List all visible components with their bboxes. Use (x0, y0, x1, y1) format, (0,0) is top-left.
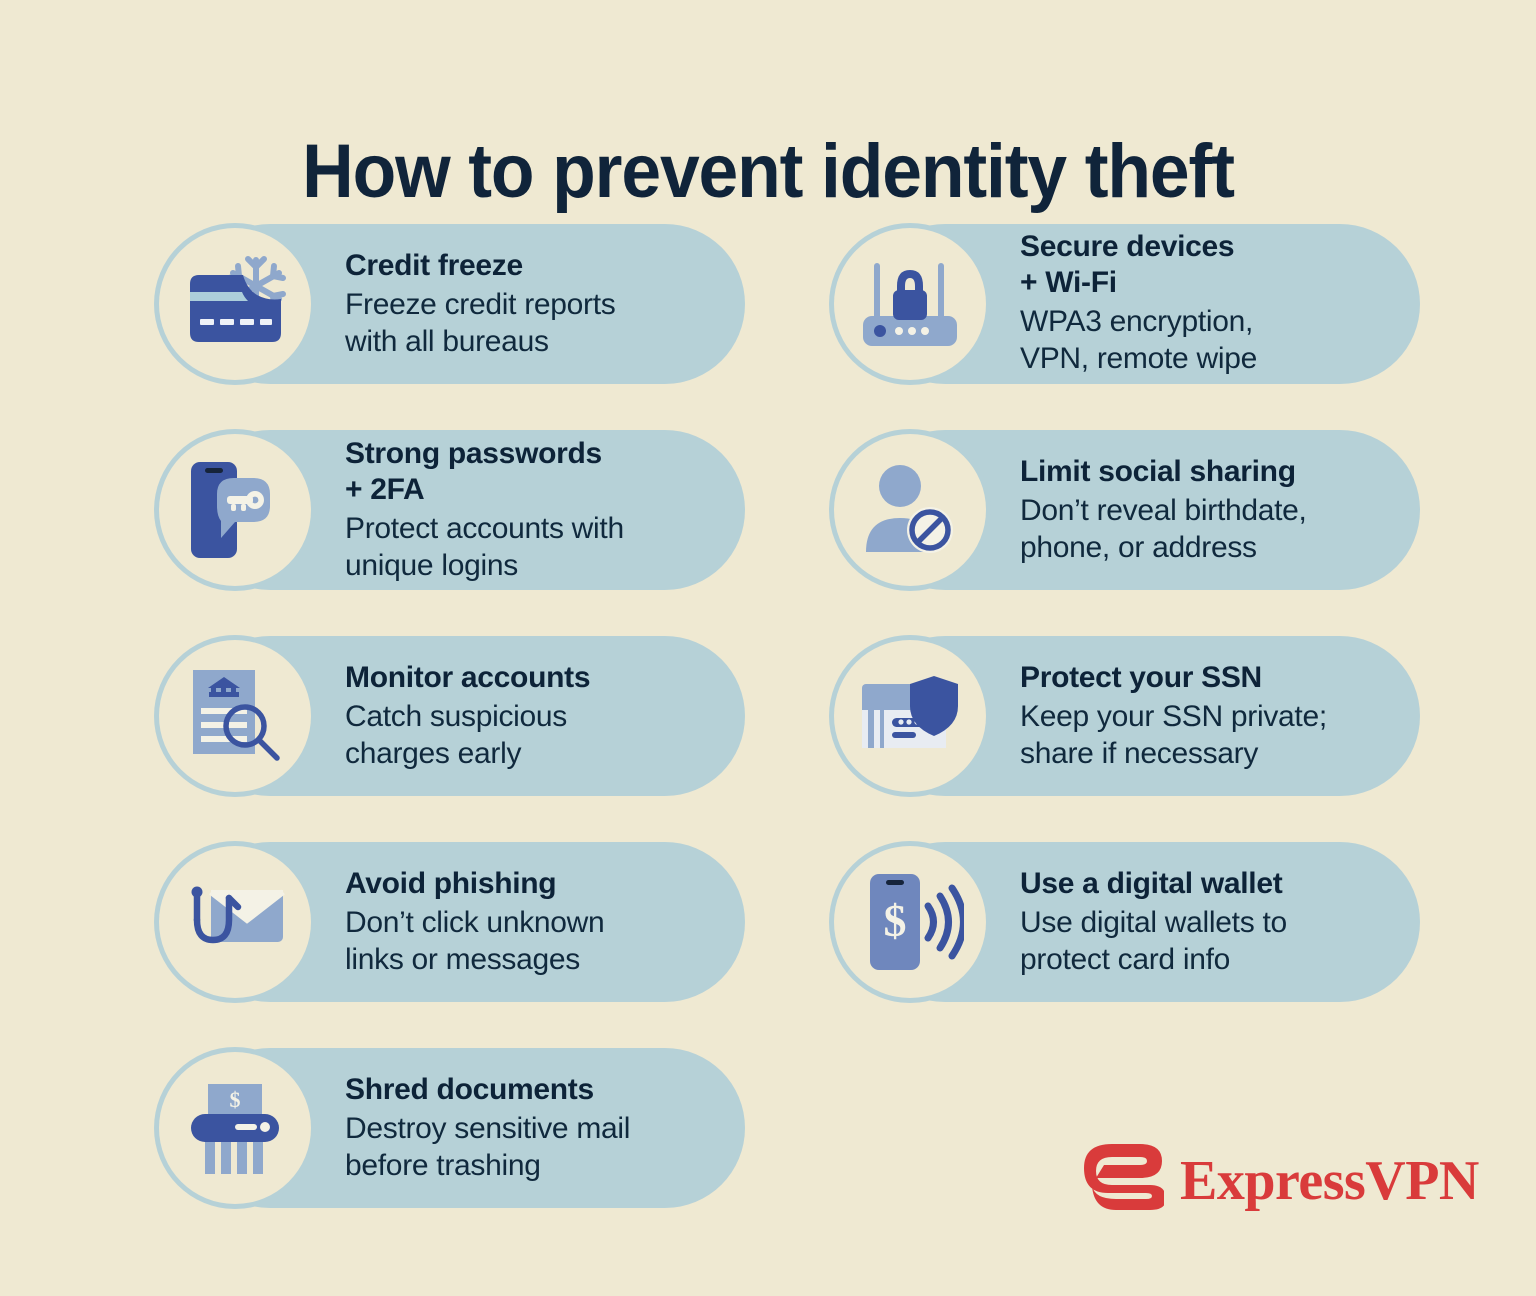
card-text: Protect your SSN Keep your SSN private; … (1020, 660, 1345, 772)
svg-text:$: $ (884, 895, 907, 946)
card-text: Strong passwords + 2FA Protect accounts … (345, 436, 642, 584)
expressvpn-logo[interactable]: ExpressVPN (1078, 1142, 1479, 1219)
tips-board: Credit freeze Freeze credit reports with… (0, 224, 1536, 1254)
card-description: Don’t click unknown links or messages (345, 904, 604, 978)
ssn-card-shield-icon (834, 640, 986, 792)
card-description: Catch suspicious charges early (345, 698, 590, 772)
tip-card-avoid-phishing[interactable]: Avoid phishing Don’t click unknown links… (155, 842, 745, 1002)
svg-text:$: $ (230, 1087, 241, 1112)
card-title: Shred documents (345, 1072, 630, 1108)
card-text: Shred documents Destroy sensitive mail b… (345, 1072, 648, 1184)
card-description: Destroy sensitive mail before trashing (345, 1110, 630, 1184)
paper-shredder-icon: $ (159, 1052, 311, 1204)
tip-card-strong-passwords[interactable]: Strong passwords + 2FA Protect accounts … (155, 430, 745, 590)
tip-card-protect-ssn[interactable]: Protect your SSN Keep your SSN private; … (830, 636, 1420, 796)
card-description: Don’t reveal birthdate, phone, or addres… (1020, 492, 1307, 566)
tip-card-credit-freeze[interactable]: Credit freeze Freeze credit reports with… (155, 224, 745, 384)
router-lock-icon (834, 228, 986, 380)
card-title: Credit freeze (345, 248, 615, 284)
card-description: Keep your SSN private; share if necessar… (1020, 698, 1327, 772)
card-text: Secure devices + Wi-Fi WPA3 encryption, … (1020, 231, 1275, 377)
tip-card-limit-social-sharing[interactable]: Limit social sharing Don’t reveal birthd… (830, 430, 1420, 590)
card-title: Avoid phishing (345, 866, 604, 902)
card-title: Strong passwords + 2FA (345, 436, 624, 508)
card-title: Use a digital wallet (1020, 866, 1287, 902)
bank-statement-magnifier-icon (159, 640, 311, 792)
card-title: Secure devices + Wi-Fi (1020, 229, 1257, 301)
card-text: Limit social sharing Don’t reveal birthd… (1020, 454, 1325, 566)
card-description: Use digital wallets to protect card info (1020, 904, 1287, 978)
card-text: Avoid phishing Don’t click unknown links… (345, 866, 622, 978)
card-text: Monitor accounts Catch suspicious charge… (345, 660, 608, 772)
tip-card-digital-wallet[interactable]: $ Use a digital wallet Use digital walle… (830, 842, 1420, 1002)
tip-card-secure-devices[interactable]: Secure devices + Wi-Fi WPA3 encryption, … (830, 224, 1420, 384)
card-description: WPA3 encryption, VPN, remote wipe (1020, 303, 1257, 377)
card-text: Use a digital wallet Use digital wallets… (1020, 866, 1305, 978)
card-text: Credit freeze Freeze credit reports with… (345, 248, 633, 360)
tip-card-monitor-accounts[interactable]: Monitor accounts Catch suspicious charge… (155, 636, 745, 796)
card-title: Monitor accounts (345, 660, 590, 696)
phone-key-icon (159, 434, 311, 586)
card-title: Limit social sharing (1020, 454, 1307, 490)
expressvpn-e-mark-icon (1078, 1142, 1164, 1219)
tip-card-shred-documents[interactable]: $ Shred documents Destroy sensitive mail… (155, 1048, 745, 1208)
card-description: Protect accounts with unique logins (345, 510, 624, 584)
page-title: How to prevent identity theft (46, 129, 1490, 215)
left-column: Credit freeze Freeze credit reports with… (155, 224, 745, 1254)
card-description: Freeze credit reports with all bureaus (345, 286, 615, 360)
person-prohibited-icon (834, 434, 986, 586)
expressvpn-wordmark: ExpressVPN (1180, 1153, 1479, 1209)
phone-contactless-dollar-icon: $ (834, 846, 986, 998)
credit-card-snowflake-icon (159, 228, 311, 380)
envelope-fishhook-icon (159, 846, 311, 998)
right-column: Secure devices + Wi-Fi WPA3 encryption, … (830, 224, 1420, 1048)
card-title: Protect your SSN (1020, 660, 1327, 696)
